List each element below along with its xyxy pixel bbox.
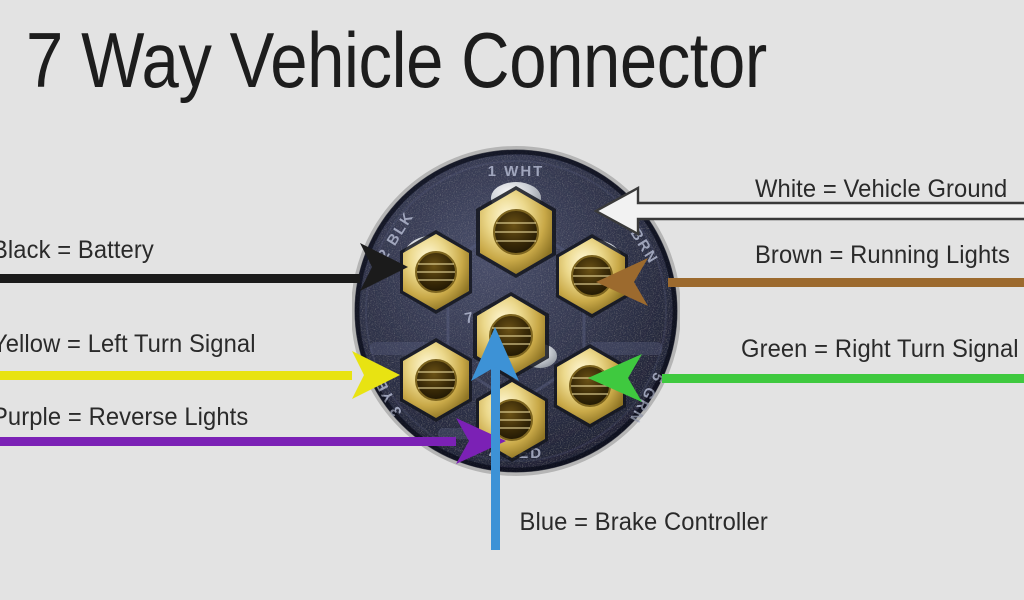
label-green: Green = Right Turn Signal <box>741 335 1019 364</box>
diagram-canvas: 7 Way Vehicle Connector <box>0 0 1024 600</box>
label-blue: Blue = Brake Controller <box>520 508 768 537</box>
connector-image: 1 WHT 2 BLK 6 BRN 7 BLU 3 YEL 5 GRN 4 RE… <box>352 146 680 476</box>
label-yellow: Yellow = Left Turn Signal <box>0 330 256 359</box>
label-purple: Purple = Reverse Lights <box>0 403 248 432</box>
page-title: 7 Way Vehicle Connector <box>26 10 895 110</box>
label-black: Black = Battery <box>0 236 154 265</box>
label-brown: Brown = Running Lights <box>755 241 1010 270</box>
label-white: White = Vehicle Ground <box>755 175 1007 204</box>
pin-marking-1-wht: 1 WHT <box>488 163 545 180</box>
